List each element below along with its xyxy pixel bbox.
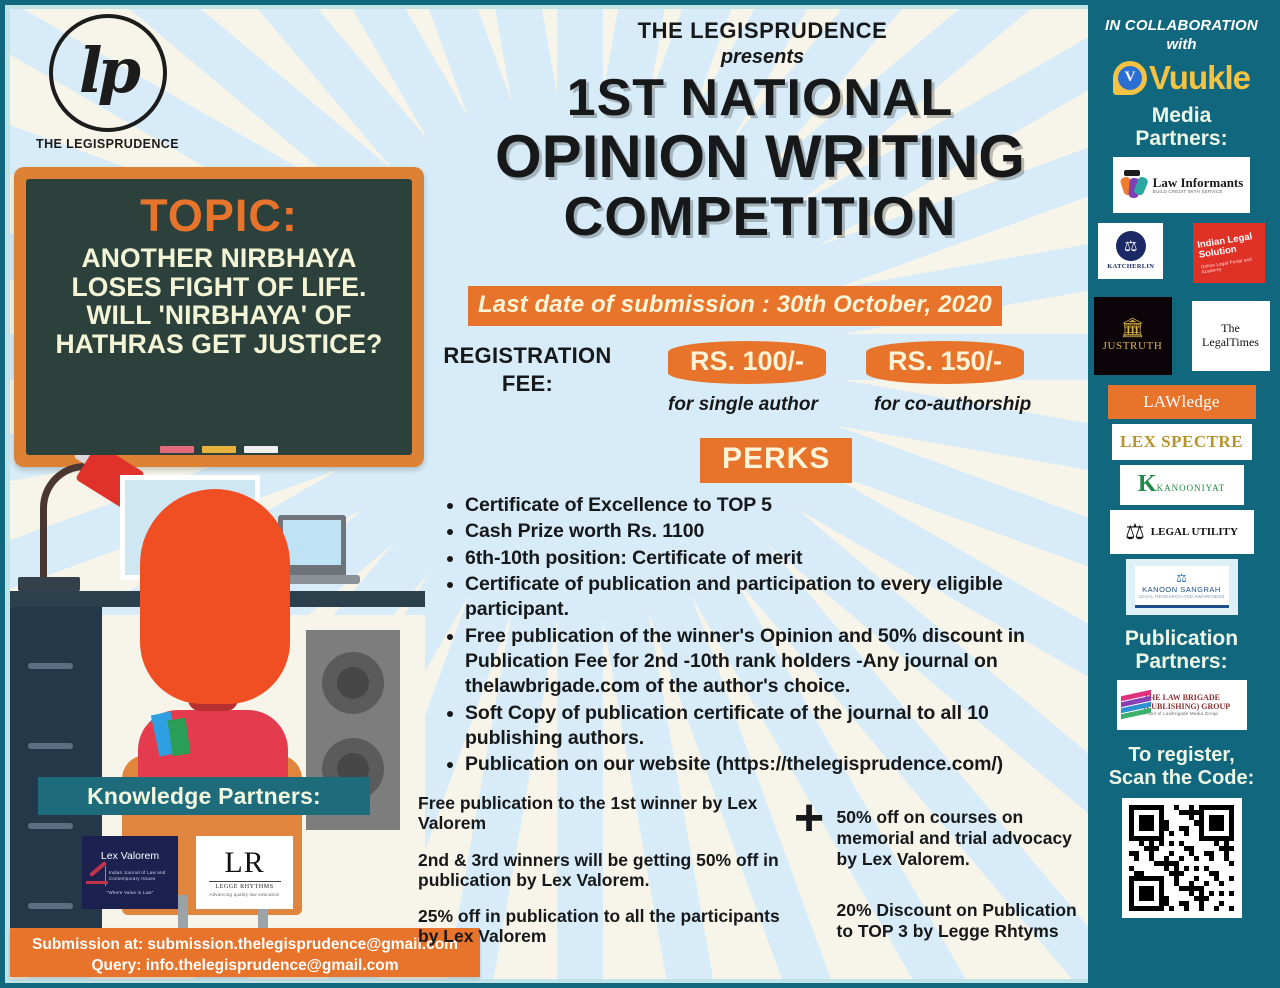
- topic-blackboard: TOPIC: ANOTHER NIRBHAYA LOSES FIGHT OF L…: [14, 167, 424, 467]
- logo-the-legal-times-name: The LegalTimes: [1192, 322, 1270, 350]
- logo-legal-utility: ⚖ LEGAL UTILITY: [1110, 510, 1254, 554]
- offer-item: 2nd & 3rd winners will be getting 50% of…: [418, 850, 782, 891]
- offer-item: 25% off in publication to all the partic…: [418, 906, 782, 947]
- query-email: Query: info.thelegisprudence@gmail.com: [10, 955, 480, 976]
- media-partners-heading-l1: Media: [1088, 104, 1275, 128]
- offers-right-column: 50% off on courses on memorial and trial…: [837, 793, 1090, 972]
- submission-footer: Submission at: submission.thelegispruden…: [10, 928, 480, 977]
- vuukle-bubble-icon: V: [1113, 61, 1147, 95]
- publication-partners-heading-l2: Partners:: [1088, 650, 1275, 674]
- logo-katcherlin: ⚖ KATCHERLIN: [1098, 223, 1163, 279]
- brand-logo: lp THE LEGISPRUDENCE: [30, 14, 185, 151]
- logo-legge-rhythms: LR LEGGE RHYTHMS Advancing quality law e…: [196, 836, 293, 909]
- logo-legge-rhythms-tagline: Advancing quality law education: [209, 892, 279, 897]
- logo-law-brigade-sub: A unit of Lawbrigade Media Group: [1144, 711, 1243, 716]
- title-line-2: OPINION WRITING: [430, 125, 1090, 188]
- logo-law-informants: Law Informants BUILD CREDIT WITH SERVICE: [1113, 157, 1250, 213]
- register-instruction-l2: Scan the Code:: [1088, 767, 1275, 790]
- logo-law-informants-name: Law Informants: [1153, 176, 1244, 189]
- registration-fee-label-line2: FEE:: [440, 370, 615, 398]
- perks-list-item: Free publication of the winner's Opinion…: [465, 624, 1083, 700]
- logo-the-legal-times: The LegalTimes: [1192, 301, 1270, 371]
- fee-single-author-caption: for single author: [668, 394, 818, 416]
- offers-left-column: Free publication to the 1st winner by Le…: [418, 793, 782, 972]
- brand-logo-monogram: lp: [79, 40, 136, 102]
- logo-legal-utility-name: LEGAL UTILITY: [1151, 525, 1238, 539]
- logo-law-brigade-name: THE LAW BRIGADE (PUBLISHING) GROUP: [1144, 693, 1243, 711]
- person-icon: [140, 489, 290, 704]
- perks-list-item: Certificate of publication and participa…: [465, 572, 1083, 623]
- fee-co-authorship-amount: RS. 150/-: [866, 341, 1024, 384]
- presents-label: presents: [440, 46, 1085, 69]
- submission-email: Submission at: submission.thelegispruden…: [10, 934, 480, 955]
- media-partners-heading-l2: Partners:: [1088, 127, 1275, 151]
- registration-fee-label: REGISTRATION FEE:: [440, 342, 615, 397]
- registration-qr-code[interactable]: [1122, 798, 1242, 918]
- register-instruction-l1: To register,: [1088, 744, 1275, 767]
- fee-single-author-amount: RS. 100/-: [668, 341, 826, 384]
- perks-list-item: Soft Copy of publication certificate of …: [465, 701, 1083, 752]
- logo-lawledge: LAWledge: [1108, 385, 1256, 419]
- perks-list-item: Certificate of Excellence to TOP 5: [465, 493, 1083, 518]
- offer-item: 50% off on courses on memorial and trial…: [837, 807, 1090, 870]
- offer-item: 20% Discount on Publication to TOP 3 by …: [837, 900, 1090, 942]
- logo-lex-valorem-sub: Indian Journal of Law and Contemporary I…: [109, 870, 174, 881]
- plus-icon: +: [782, 793, 837, 972]
- brand-logo-circle-icon: lp: [49, 14, 167, 132]
- logo-kanoon-sangrah-name: KANOON SANGRAH: [1142, 585, 1221, 594]
- logo-lex-valorem: Lex Valorem Indian Journal of Law and Co…: [82, 836, 178, 909]
- perks-list-item: Cash Prize worth Rs. 1100: [465, 519, 1083, 544]
- chalk-pieces-icon: [160, 446, 278, 453]
- logo-law-brigade: THE LAW BRIGADE (PUBLISHING) GROUP A uni…: [1117, 680, 1247, 730]
- logo-kanooniyat-name: KANOONIYAT: [1157, 483, 1226, 493]
- collaboration-label: IN COLLABORATION: [1088, 17, 1275, 35]
- topic-label: TOPIC:: [42, 193, 396, 238]
- title-line-1: 1ST NATIONAL: [430, 72, 1090, 125]
- collaboration-with-label: with: [1088, 36, 1275, 53]
- title-line-3: COMPETITION: [430, 188, 1090, 246]
- deadline-banner: Last date of submission : 30th October, …: [468, 286, 1002, 326]
- logo-justruth: 🏛 JUSTRUTH: [1094, 297, 1172, 375]
- logo-legge-rhythms-sub: LEGGE RHYTHMS: [215, 884, 273, 890]
- logo-kanoon-sangrah-sub: LEGAL RESEARCH AND AWARENESS: [1138, 594, 1224, 599]
- vuukle-wordmark: Vuukle: [1149, 61, 1250, 94]
- knowledge-partners-logos: Lex Valorem Indian Journal of Law and Co…: [82, 836, 342, 909]
- logo-indian-legal-solution: Indian Legal Solution Online Legal Porta…: [1193, 223, 1265, 283]
- presenter-name: THE LEGISPRUDENCE: [440, 18, 1085, 44]
- register-instruction: To register, Scan the Code:: [1088, 744, 1275, 790]
- logo-kanooniyat: K KANOONIYAT: [1120, 465, 1244, 505]
- perks-list: Certificate of Excellence to TOP 5Cash P…: [443, 493, 1083, 779]
- publication-partners-heading: Publication Partners:: [1088, 627, 1275, 674]
- poster-root: lp THE LEGISPRUDENCE TOPIC: ANOTHER NIRB…: [0, 0, 1280, 988]
- perks-heading: PERKS: [700, 438, 852, 483]
- fee-co-authorship-caption: for co-authorship: [874, 394, 1031, 416]
- partners-sidebar: IN COLLABORATION with V Vuukle Media Par…: [1088, 5, 1275, 983]
- logo-lex-valorem-name: Lex Valorem: [101, 850, 159, 862]
- logo-kanoon-sangrah: ⚖ KANOON SANGRAH LEGAL RESEARCH AND AWAR…: [1126, 559, 1238, 615]
- logo-justruth-name: JUSTRUTH: [1103, 340, 1163, 352]
- logo-legge-rhythms-name: LR: [224, 848, 264, 878]
- logo-lex-spectre-name: LEX SPECTRE: [1120, 432, 1243, 452]
- knowledge-partners-heading: Knowledge Partners:: [38, 777, 370, 815]
- offers-section: Free publication to the 1st winner by Le…: [418, 793, 1090, 972]
- brand-logo-name: THE LEGISPRUDENCE: [30, 137, 185, 151]
- logo-lawledge-name: LAWledge: [1143, 392, 1220, 412]
- publication-partners-heading-l1: Publication: [1088, 627, 1275, 651]
- vuukle-mark: V: [1118, 66, 1142, 90]
- perks-list-item: 6th-10th position: Certificate of merit: [465, 546, 1083, 571]
- registration-fee-label-line1: REGISTRATION: [440, 342, 615, 370]
- media-partners-heading: Media Partners:: [1088, 104, 1275, 151]
- offer-item: Free publication to the 1st winner by Le…: [418, 793, 782, 834]
- topic-text: ANOTHER NIRBHAYA LOSES FIGHT OF LIFE. WI…: [42, 244, 396, 358]
- topic-blackboard-surface: TOPIC: ANOTHER NIRBHAYA LOSES FIGHT OF L…: [26, 179, 412, 455]
- perks-list-item: Publication on our website (https://thel…: [465, 752, 1083, 777]
- logo-vuukle: V Vuukle: [1088, 60, 1275, 96]
- logo-katcherlin-name: KATCHERLIN: [1107, 263, 1154, 270]
- page-title: 1ST NATIONAL OPINION WRITING COMPETITION: [430, 72, 1090, 246]
- logo-lex-spectre: LEX SPECTRE: [1112, 424, 1252, 460]
- logo-lex-valorem-tagline: "Where Value is Law": [107, 890, 154, 895]
